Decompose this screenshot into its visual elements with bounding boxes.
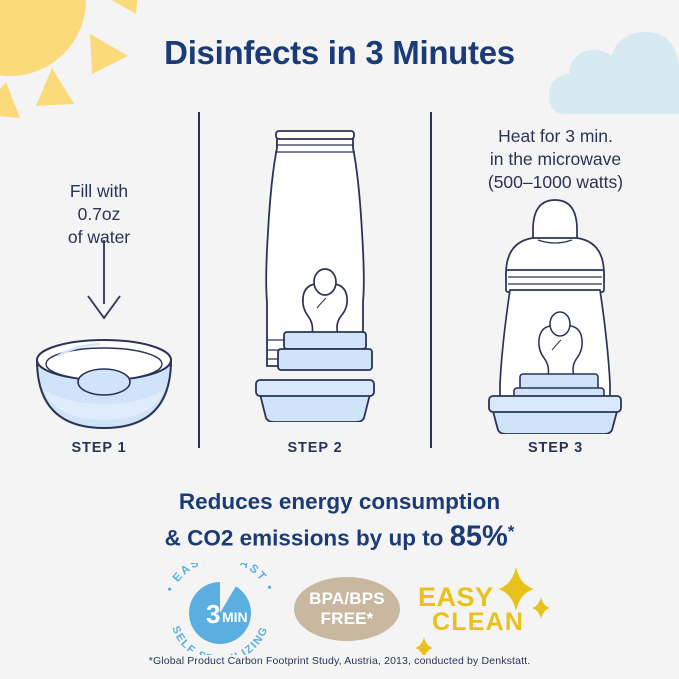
easy-fast-self-sterilizing-seal: • EASY & FAST • SELF STERILIZING 3 MIN (152, 563, 288, 655)
bottle-teat-basket-icon (200, 112, 430, 427)
assembled-sterilizer-icon (432, 194, 679, 439)
steps-container: Fill with 0.7oz of water (0, 112, 679, 452)
step-3-caption-line-2: in the microwave (432, 148, 679, 171)
seal-center-number: 3 (206, 599, 220, 629)
step-3-caption-line-1: Heat for 3 min. (432, 125, 679, 148)
energy-claim-highlight: 85% (450, 521, 508, 553)
down-arrow-icon (0, 240, 198, 325)
bpa-bps-free-badge: BPA/BPS FREE* (288, 563, 408, 655)
step-3-column: Heat for 3 min. in the microwave (500–10… (432, 112, 679, 448)
step-1-caption-line-2: 0.7oz (0, 203, 198, 226)
energy-claim-footnote-marker: * (508, 522, 515, 541)
footnote: *Global Product Carbon Footprint Study, … (0, 655, 679, 667)
step-3-caption-line-3: (500–1000 watts) (432, 171, 679, 194)
step-1-label: STEP 1 (0, 440, 198, 456)
easy-clean-line-2: CLEAN (418, 610, 522, 635)
bpa-oval-shape: BPA/BPS FREE* (294, 577, 400, 641)
step-1-column: Fill with 0.7oz of water (0, 112, 198, 448)
step-3-caption: Heat for 3 min. in the microwave (500–10… (432, 125, 679, 194)
step-labels: STEP 1 STEP 2 STEP 3 (0, 440, 679, 464)
bowl-with-water-icon (0, 328, 198, 443)
step-3-label: STEP 3 (432, 440, 679, 456)
bpa-line-1: BPA/BPS (309, 589, 385, 609)
step-2-label: STEP 2 (200, 440, 430, 456)
energy-claim-line-2: & CO2 emissions by up to 85%* (0, 517, 679, 554)
energy-claim: Reduces energy consumption & CO2 emissio… (0, 487, 679, 554)
easy-clean-line-1: EASY (418, 585, 522, 610)
energy-claim-prefix: & CO2 emissions by up to (165, 526, 450, 551)
seal-center-unit: MIN (222, 609, 248, 625)
easy-clean-text: EASY CLEAN (418, 585, 522, 635)
step-1-caption-line-1: Fill with (0, 180, 198, 203)
step-2-column (200, 112, 430, 448)
badges-row: • EASY & FAST • SELF STERILIZING 3 MIN B… (0, 563, 679, 655)
easy-clean-badge: EASY CLEAN (412, 563, 552, 655)
page-title: Disinfects in 3 Minutes (0, 34, 679, 72)
bpa-line-2: FREE* (321, 609, 374, 629)
step-1-caption: Fill with 0.7oz of water (0, 180, 198, 249)
infographic-canvas: Disinfects in 3 Minutes Fill with 0.7oz … (0, 0, 679, 679)
energy-claim-line-1: Reduces energy consumption (0, 487, 679, 517)
